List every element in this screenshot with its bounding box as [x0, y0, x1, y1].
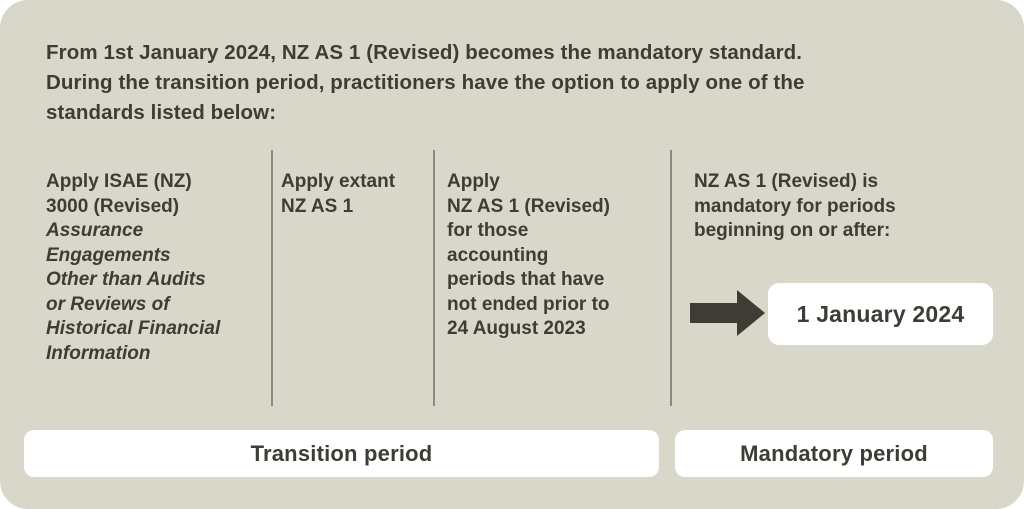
- column-divider-1: [271, 150, 273, 406]
- column-1-italic-line-1: Assurance: [46, 219, 261, 244]
- column-2-line-1: Apply extant: [281, 170, 423, 195]
- column-apply-isae-nz-3000: Apply ISAE (NZ) 3000 (Revised) Assurance…: [46, 150, 261, 406]
- page-title: From 1st January 2024, NZ AS 1 (Revised)…: [46, 38, 946, 128]
- column-3-line-6: not ended prior to: [447, 293, 659, 318]
- column-4-line-2: mandatory for periods: [694, 195, 994, 220]
- column-1-line-1: Apply ISAE (NZ): [46, 170, 261, 195]
- column-apply-nz-as-1-revised: Apply NZ AS 1 (Revised) for those accoun…: [447, 150, 659, 406]
- infographic-card: From 1st January 2024, NZ AS 1 (Revised)…: [0, 0, 1024, 509]
- right-arrow-icon: [690, 290, 765, 336]
- column-1-italic-line-3: Other than Audits: [46, 268, 261, 293]
- column-mandatory-notice: NZ AS 1 (Revised) is mandatory for perio…: [694, 150, 994, 406]
- column-3-line-7: 24 August 2023: [447, 317, 659, 342]
- column-3-line-2: NZ AS 1 (Revised): [447, 195, 659, 220]
- mandatory-period-bar: Mandatory period: [675, 430, 993, 477]
- column-1-italic-line-6: Information: [46, 342, 261, 367]
- column-4-line-3: beginning on or after:: [694, 219, 994, 244]
- column-3-line-5: periods that have: [447, 268, 659, 293]
- column-3-line-3: for those: [447, 219, 659, 244]
- column-apply-extant-nz-as-1: Apply extant NZ AS 1: [281, 150, 423, 406]
- column-divider-2: [433, 150, 435, 406]
- column-1-italic-line-2: Engagements: [46, 244, 261, 269]
- column-4-line-1: NZ AS 1 (Revised) is: [694, 170, 994, 195]
- mandatory-period-label: Mandatory period: [740, 441, 928, 467]
- column-3-line-4: accounting: [447, 244, 659, 269]
- column-1-italic-line-4: or Reviews of: [46, 293, 261, 318]
- heading-line-1: From 1st January 2024, NZ AS 1 (Revised)…: [46, 38, 946, 68]
- heading-line-2: During the transition period, practition…: [46, 68, 946, 98]
- column-2-line-2: NZ AS 1: [281, 195, 423, 220]
- column-3-line-1: Apply: [447, 170, 659, 195]
- column-divider-3: [670, 150, 672, 406]
- column-1-line-2: 3000 (Revised): [46, 195, 261, 220]
- standards-columns: Apply ISAE (NZ) 3000 (Revised) Assurance…: [0, 150, 1024, 406]
- heading-line-3: standards listed below:: [46, 98, 946, 128]
- transition-period-bar: Transition period: [24, 430, 659, 477]
- transition-period-label: Transition period: [251, 441, 433, 467]
- mandatory-date-value: 1 January 2024: [797, 301, 965, 328]
- mandatory-date-box: 1 January 2024: [768, 283, 993, 345]
- column-1-italic-line-5: Historical Financial: [46, 317, 261, 342]
